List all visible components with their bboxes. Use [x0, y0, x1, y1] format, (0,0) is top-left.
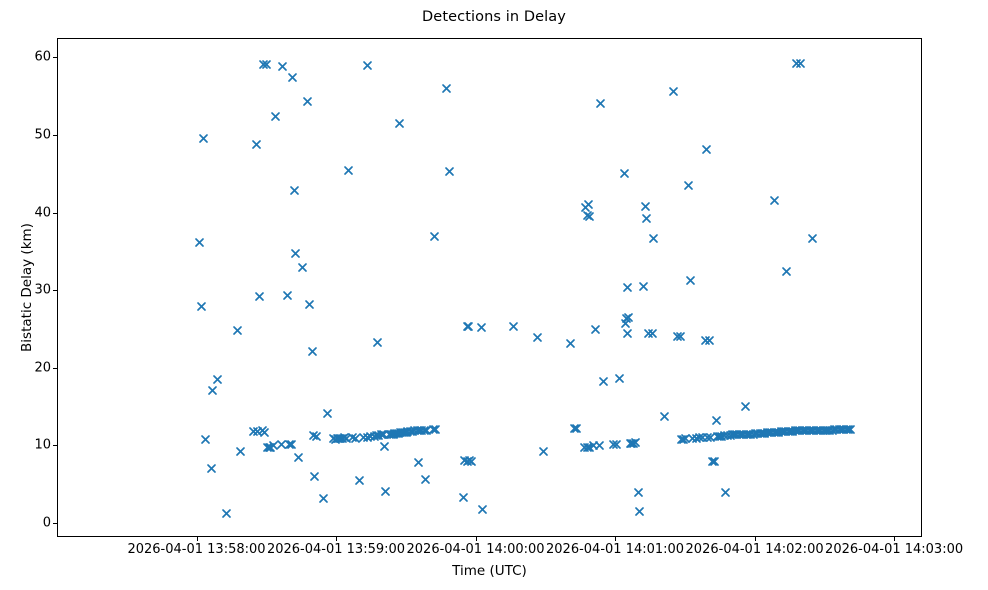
scatter-point — [430, 424, 441, 435]
x-tick-label: 2026-04-01 14:01:00 — [546, 543, 684, 556]
scatter-point — [378, 429, 389, 440]
x-tick-label: 2026-04-01 14:02:00 — [686, 543, 824, 556]
scatter-point — [628, 438, 639, 449]
y-tick-mark — [53, 57, 57, 58]
scatter-point — [762, 427, 773, 438]
scatter-point — [373, 430, 384, 441]
scatter-point — [251, 139, 262, 150]
scatter-point — [815, 425, 826, 436]
scatter-point — [685, 275, 696, 286]
scatter-point — [738, 429, 749, 440]
scatter-point — [372, 337, 383, 348]
x-tick-mark — [476, 537, 477, 541]
scatter-point — [582, 210, 593, 221]
scatter-point — [284, 439, 295, 450]
scatter-point — [640, 201, 651, 212]
scatter-point — [232, 325, 243, 336]
scatter-point — [759, 428, 770, 439]
scatter-point — [672, 331, 683, 342]
scatter-point — [757, 428, 768, 439]
scatter-point — [354, 475, 365, 486]
scatter-point — [712, 431, 723, 442]
scatter-point — [444, 166, 455, 177]
scatter-point — [729, 429, 740, 440]
scatter-point — [806, 425, 817, 436]
scatter-point — [808, 425, 819, 436]
scatter-point — [335, 433, 346, 444]
y-tick-mark — [53, 368, 57, 369]
scatter-point — [705, 432, 716, 443]
scatter-point — [829, 424, 840, 435]
scatter-point — [332, 433, 343, 444]
scatter-point — [393, 428, 404, 439]
scatter-point — [318, 493, 329, 504]
x-tick-label: 2026-04-01 13:58:00 — [127, 543, 265, 556]
scatter-point — [598, 376, 609, 387]
scatter-point — [641, 213, 652, 224]
scatter-point — [743, 429, 754, 440]
scatter-point — [277, 61, 288, 72]
scatter-point — [289, 185, 300, 196]
scatter-point — [778, 426, 789, 437]
scatter-point — [429, 231, 440, 242]
scatter-point — [691, 433, 702, 444]
x-tick-mark — [197, 537, 198, 541]
scatter-point — [565, 338, 576, 349]
scatter-point — [741, 429, 752, 440]
scatter-point — [687, 433, 698, 444]
scatter-point — [379, 441, 390, 452]
scatter-point — [675, 331, 686, 342]
scatter-point — [307, 346, 318, 357]
scatter-point — [588, 440, 599, 451]
scatter-point — [580, 202, 591, 213]
scatter-point — [297, 262, 308, 273]
scatter-point — [722, 430, 733, 441]
plot-axes-frame — [57, 38, 922, 537]
scatter-point — [402, 426, 413, 437]
scatter-point — [594, 440, 605, 451]
scatter-point — [579, 442, 590, 453]
scatter-point — [350, 433, 361, 444]
scatter-point — [845, 424, 856, 435]
scatter-point — [462, 456, 473, 467]
scatter-point — [462, 321, 473, 332]
scatter-point — [258, 59, 269, 70]
y-tick-mark — [53, 213, 57, 214]
scatter-point — [262, 442, 273, 453]
scatter-point — [421, 425, 432, 436]
scatter-point — [769, 195, 780, 206]
scatter-point — [621, 313, 632, 324]
y-tick-mark — [53, 445, 57, 446]
scatter-point — [794, 425, 805, 436]
scatter-point — [595, 98, 606, 109]
scatter-point — [347, 432, 358, 443]
scatter-point — [414, 425, 425, 436]
scatter-point — [736, 429, 747, 440]
y-axis-tick-marks — [53, 38, 57, 537]
scatter-point — [711, 415, 722, 426]
scatter-point — [343, 165, 354, 176]
scatter-point — [376, 429, 387, 440]
scatter-point — [622, 328, 633, 339]
scatter-point — [365, 431, 376, 442]
scatter-point — [196, 301, 207, 312]
scatter-point — [582, 442, 593, 453]
scatter-point — [412, 425, 423, 436]
scatter-point — [647, 328, 658, 339]
scatter-point — [734, 429, 745, 440]
scatter-point — [395, 427, 406, 438]
scatter-point — [622, 282, 633, 293]
scatter-point — [836, 424, 847, 435]
x-tick-mark — [894, 537, 895, 541]
scatter-point — [801, 425, 812, 436]
scatter-point — [333, 433, 344, 444]
scatter-point — [405, 426, 416, 437]
scatter-point — [384, 429, 395, 440]
scatter-point — [282, 290, 293, 301]
scatter-points-layer — [58, 39, 921, 536]
scatter-point — [369, 431, 380, 442]
scatter-point — [781, 266, 792, 277]
scatter-point — [268, 440, 279, 451]
scatter-point — [697, 432, 708, 443]
scatter-point — [571, 423, 582, 434]
scatter-point — [458, 492, 469, 503]
scatter-point — [394, 118, 405, 129]
scatter-point — [648, 233, 659, 244]
scatter-point — [276, 439, 287, 450]
scatter-point — [401, 427, 412, 438]
scatter-point — [797, 425, 808, 436]
scatter-point — [748, 429, 759, 440]
scatter-point — [626, 438, 637, 449]
scatter-point — [790, 425, 801, 436]
scatter-point — [441, 83, 452, 94]
scatter-point — [727, 429, 738, 440]
scatter-point — [252, 426, 263, 437]
scatter-point — [792, 425, 803, 436]
scatter-point — [270, 111, 281, 122]
scatter-point — [371, 430, 382, 441]
scatter-point — [633, 487, 644, 498]
scatter-point — [755, 428, 766, 439]
scatter-point — [795, 58, 806, 69]
scatter-plot-figure: Detections in Delay 0102030405060 2026-0… — [0, 0, 988, 590]
scatter-point — [206, 463, 217, 474]
scatter-point — [200, 434, 211, 445]
scatter-point — [477, 504, 488, 515]
scatter-point — [409, 425, 420, 436]
scatter-point — [700, 335, 711, 346]
scatter-point — [341, 433, 352, 444]
scatter-point — [807, 233, 818, 244]
x-axis-label: Time (UTC) — [57, 563, 922, 579]
scatter-point — [766, 427, 777, 438]
scatter-point — [248, 426, 259, 437]
x-tick-label: 2026-04-01 13:59:00 — [267, 543, 405, 556]
scatter-point — [259, 427, 270, 438]
scatter-point — [328, 433, 339, 444]
scatter-point — [358, 432, 369, 443]
scatter-point — [701, 144, 712, 155]
scatter-point — [791, 58, 802, 69]
scatter-point — [391, 428, 402, 439]
scatter-point — [362, 432, 373, 443]
scatter-point — [264, 442, 275, 453]
scatter-point — [625, 438, 636, 449]
scatter-point — [831, 424, 842, 435]
scatter-point — [212, 374, 223, 385]
scatter-point — [680, 433, 691, 444]
scatter-point — [676, 434, 687, 445]
scatter-point — [619, 168, 630, 179]
x-tick-mark — [615, 537, 616, 541]
scatter-point — [413, 457, 424, 468]
x-tick-label: 2026-04-01 14:00:00 — [407, 543, 545, 556]
scatter-point — [716, 431, 727, 442]
scatter-point — [538, 446, 549, 457]
scatter-point — [813, 425, 824, 436]
scatter-point — [719, 430, 730, 441]
scatter-point — [787, 426, 798, 437]
scatter-point — [590, 324, 601, 335]
scatter-point — [583, 199, 594, 210]
scatter-point — [466, 456, 477, 467]
scatter-point — [286, 439, 297, 450]
scatter-point — [194, 237, 205, 248]
scatter-point — [304, 299, 315, 310]
scatter-point — [668, 86, 679, 97]
y-tick-mark — [53, 523, 57, 524]
x-tick-mark — [336, 537, 337, 541]
y-tick-mark — [53, 135, 57, 136]
scatter-point — [339, 432, 350, 443]
scatter-point — [476, 322, 487, 333]
scatter-point — [620, 318, 631, 329]
scatter-point — [464, 455, 475, 466]
scatter-point — [804, 425, 815, 436]
scatter-point — [330, 434, 341, 445]
scatter-point — [834, 424, 845, 435]
scatter-point — [827, 425, 838, 436]
scatter-point — [235, 446, 246, 457]
scatter-point — [783, 426, 794, 437]
scatter-point — [623, 312, 634, 323]
scatter-point — [221, 508, 232, 519]
scatter-point — [308, 430, 319, 441]
scatter-point — [771, 427, 782, 438]
scatter-point — [841, 424, 852, 435]
scatter-point — [838, 424, 849, 435]
scatter-point — [683, 180, 694, 191]
scatter-point — [740, 401, 751, 412]
scatter-point — [397, 427, 408, 438]
scatter-point — [750, 428, 761, 439]
scatter-point — [752, 428, 763, 439]
scatter-point — [709, 456, 720, 467]
scatter-point — [725, 430, 736, 441]
scatter-point — [584, 442, 595, 453]
scatter-point — [416, 425, 427, 436]
scatter-point — [362, 60, 373, 71]
scatter-point — [818, 425, 829, 436]
scatter-point — [265, 442, 276, 453]
scatter-point — [714, 431, 725, 442]
scatter-point — [704, 335, 715, 346]
scatter-point — [420, 474, 431, 485]
scatter-point — [309, 471, 320, 482]
scatter-point — [293, 452, 304, 463]
scatter-point — [508, 321, 519, 332]
scatter-point — [785, 426, 796, 437]
scatter-point — [290, 248, 301, 259]
scatter-point — [261, 59, 272, 70]
scatter-point — [702, 432, 713, 443]
scatter-point — [407, 426, 418, 437]
scatter-point — [386, 429, 397, 440]
scatter-point — [388, 429, 399, 440]
scatter-point — [399, 427, 410, 438]
scatter-point — [820, 425, 831, 436]
scatter-point — [694, 432, 705, 443]
scatter-point — [532, 332, 543, 343]
scatter-point — [720, 487, 731, 498]
x-tick-label: 2026-04-01 14:03:00 — [825, 543, 963, 556]
scatter-point — [337, 433, 348, 444]
scatter-point — [459, 455, 470, 466]
scatter-point — [799, 425, 810, 436]
scatter-point — [769, 427, 780, 438]
scatter-point — [419, 425, 430, 436]
scatter-point — [773, 427, 784, 438]
x-tick-mark — [755, 537, 756, 541]
scatter-point — [822, 425, 833, 436]
scatter-point — [569, 423, 580, 434]
scatter-point — [614, 373, 625, 384]
y-tick-mark — [53, 290, 57, 291]
scatter-point — [584, 211, 595, 222]
scatter-point — [780, 426, 791, 437]
scatter-point — [302, 96, 313, 107]
scatter-point — [428, 424, 439, 435]
scatter-point — [380, 486, 391, 497]
scatter-point — [463, 321, 474, 332]
scatter-point — [678, 434, 689, 445]
y-axis-label: Bistatic Delay (km) — [19, 38, 39, 537]
scatter-point — [630, 437, 641, 448]
scatter-point — [843, 424, 854, 435]
scatter-point — [608, 439, 619, 450]
scatter-point — [389, 428, 400, 439]
scatter-point — [659, 411, 670, 422]
scatter-point — [707, 456, 718, 467]
scatter-point — [764, 427, 775, 438]
scatter-point — [254, 291, 265, 302]
scatter-point — [824, 425, 835, 436]
scatter-point — [311, 431, 322, 442]
scatter-point — [198, 133, 209, 144]
scatter-point — [322, 408, 333, 419]
scatter-point — [611, 439, 622, 450]
scatter-point — [776, 426, 787, 437]
scatter-point — [643, 328, 654, 339]
scatter-point — [207, 385, 218, 396]
scatter-point — [638, 281, 649, 292]
scatter-point — [745, 429, 756, 440]
scatter-point — [287, 72, 298, 83]
scatter-point — [731, 429, 742, 440]
scatter-point — [257, 425, 268, 436]
scatter-point — [634, 506, 645, 517]
scatter-point — [811, 425, 822, 436]
page-title: Detections in Delay — [0, 9, 988, 25]
